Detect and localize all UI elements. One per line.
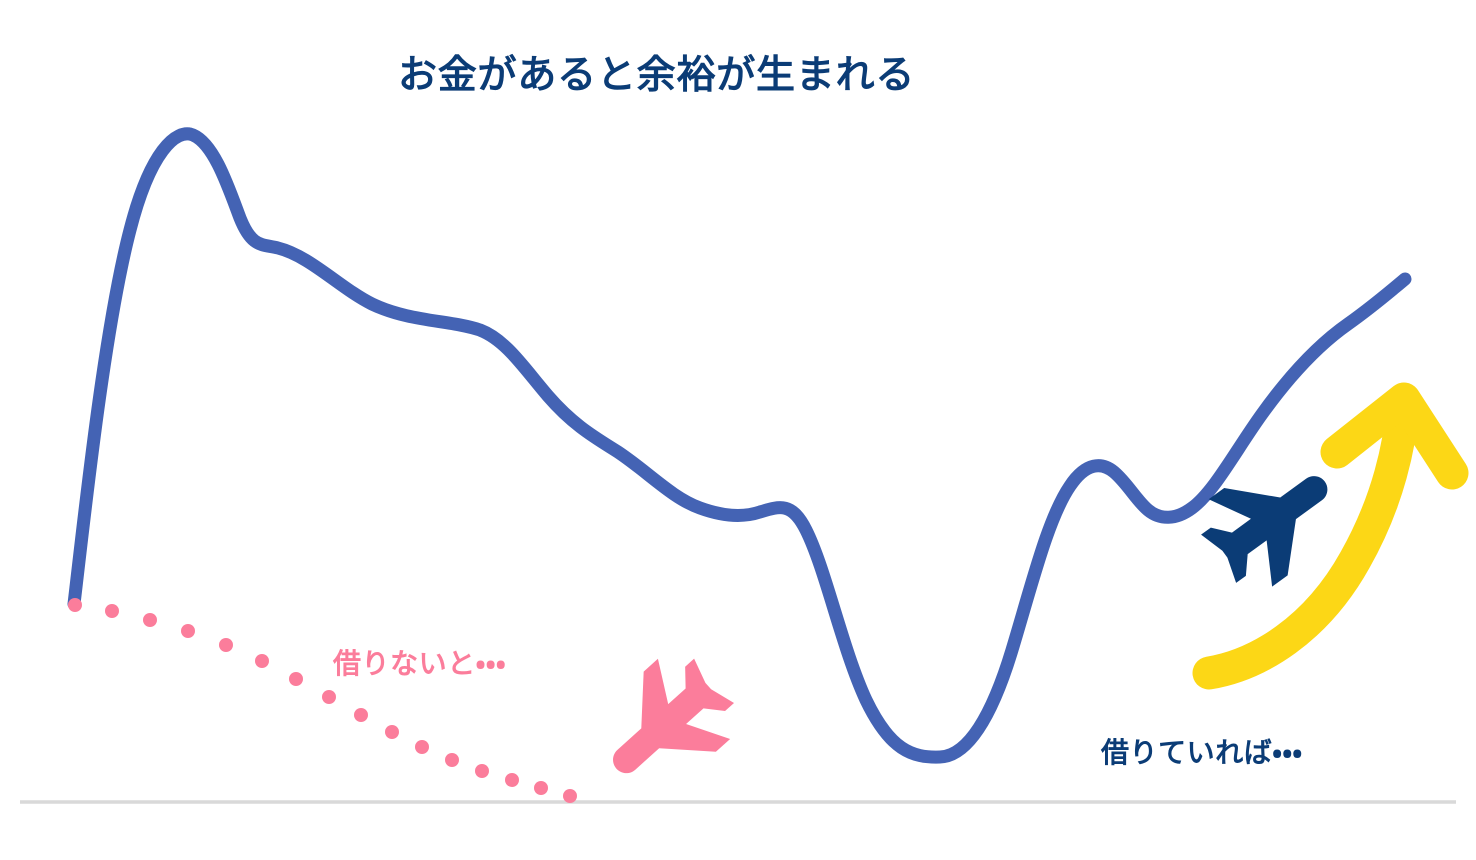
annotation-no-borrow: 借りないと・・・ [333,650,506,678]
page-title: お金があると余裕が生まれる [398,56,915,95]
chart-graphic [0,0,1476,860]
pink-dotted-line [68,598,577,803]
annotation-borrow: 借りていれば・・・ [1101,739,1303,767]
chart-canvas: お金があると余裕が生まれる 借りないと・・・ 借りていれば・・・ [0,0,1476,860]
airplane-down-icon [580,641,750,809]
